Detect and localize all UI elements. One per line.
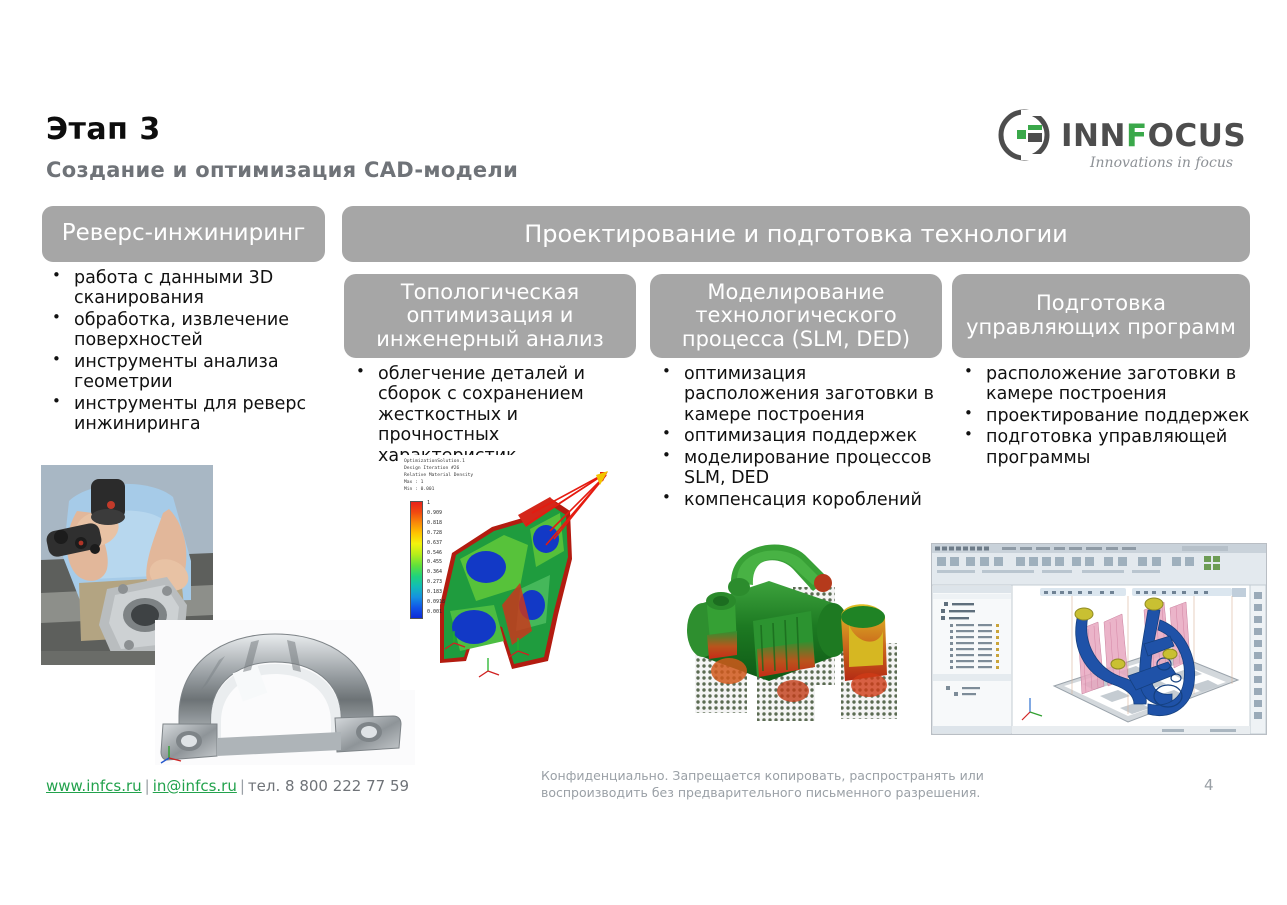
website-link[interactable]: www.infcs.ru: [46, 777, 142, 795]
fea-scale-value: 0.546: [427, 549, 445, 559]
list-item: инструменты для реверс инжиниринга: [44, 394, 344, 435]
bullets-nc-program-prep: расположение заготовки в камере построен…: [956, 364, 1256, 469]
list-item: проектирование поддержек: [956, 406, 1256, 426]
fea-legend-line: Min : 0.001: [404, 487, 496, 494]
logo-tagline: Innovations in focus: [1089, 155, 1233, 171]
footer-separator: |: [145, 777, 150, 795]
list-item: обработка, извлечение поверхностей: [44, 310, 344, 351]
list-item: моделирование процессов SLM, DED: [654, 448, 946, 489]
fea-scale-value: 0.455: [427, 558, 445, 568]
fea-legend: OptimizationSolution.1 Design Iteration …: [404, 459, 496, 493]
fea-scale-value: 0.364: [427, 568, 445, 578]
confidentiality-notice: Конфиденциально. Запрещается копировать,…: [541, 768, 1021, 802]
list-item: компенсация короблений: [654, 490, 946, 510]
phone-text: тел. 8 800 222 77 59: [248, 777, 409, 795]
fea-color-scale: [410, 501, 423, 619]
bearing-cap-cad-model: [155, 620, 415, 765]
list-item: работа с данными 3D сканирования: [44, 268, 344, 309]
list-item: расположение заготовки в камере построен…: [956, 364, 1256, 405]
fea-legend-line: Max : 1: [404, 480, 496, 487]
innfocus-logo: INNFOCUS Innovations in focus: [995, 108, 1253, 176]
fea-scale-value: 0.728: [427, 529, 445, 539]
bullets-process-simulation: оптимизация расположения заготовки в кам…: [654, 364, 946, 511]
fea-legend-line: Design Iteration #26: [404, 466, 496, 473]
list-item: оптимизация поддержек: [654, 426, 946, 446]
header-design-tech-prep: Проектирование и подготовка технологии: [342, 206, 1250, 262]
header-process-simulation: Моделирование технологического процесса …: [650, 274, 942, 358]
fea-legend-line: OptimizationSolution.1: [404, 459, 496, 466]
header-reverse-engineering: Реверс-инжиниринг: [42, 206, 325, 262]
list-item: подготовка управляющей программы: [956, 427, 1256, 468]
email-link[interactable]: in@infcs.ru: [153, 777, 237, 795]
list-item: оптимизация расположения заготовки в кам…: [654, 364, 946, 425]
build-preparation-software: [931, 543, 1267, 735]
footer-contacts: www.infcs.ru|in@infcs.ru|тел. 8 800 222 …: [46, 777, 409, 795]
fea-scale-value: 0.637: [427, 539, 445, 549]
topology-optimization-result: OptimizationSolution.1 Design Iteration …: [400, 455, 650, 690]
list-item: инструменты анализа геометрии: [44, 352, 344, 393]
header-topology-optimization: Топологическая оптимизация и инженерный …: [344, 274, 636, 358]
slide: Этап 3 Создание и оптимизация CAD-модели…: [0, 0, 1287, 905]
page-number: 4: [1204, 776, 1214, 794]
header-nc-program-prep: Подготовка управляющих программ: [952, 274, 1250, 358]
bullets-topology-optimization: облегчение деталей и сборок с сохранение…: [348, 364, 638, 467]
fea-scale-value: 0.001: [427, 608, 445, 618]
footer-separator: |: [240, 777, 245, 795]
bullets-reverse-engineering: работа с данными 3D сканирования обработ…: [44, 268, 344, 436]
page-subtitle: Создание и оптимизация CAD-модели: [46, 158, 518, 182]
slm-process-simulation: [665, 525, 915, 740]
logo-wordmark: INNFOCUS: [1061, 118, 1246, 154]
fea-scale-values: 1 0.909 0.818 0.728 0.637 0.546 0.455 0.…: [427, 499, 445, 618]
fea-scale-value: 0.183: [427, 588, 445, 598]
fea-legend-line: Relative Material Density: [404, 473, 496, 480]
fea-scale-value: 0.0918: [427, 598, 445, 608]
list-item: облегчение деталей и сборок с сохранение…: [348, 364, 638, 466]
fea-scale-value: 0.273: [427, 578, 445, 588]
fea-scale-value: 1: [427, 499, 445, 509]
logo-mark-icon: [1001, 110, 1047, 160]
fea-scale-value: 0.909: [427, 509, 445, 519]
page-title: Этап 3: [46, 112, 161, 147]
fea-scale-value: 0.818: [427, 519, 445, 529]
